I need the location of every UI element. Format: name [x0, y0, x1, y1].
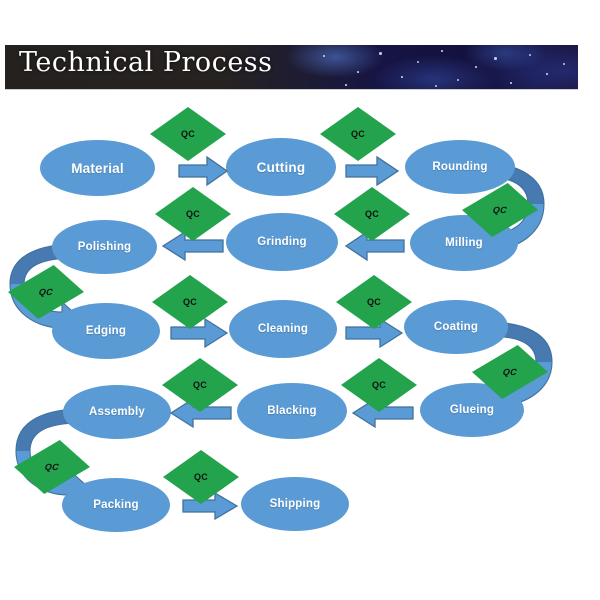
node-label: Edging: [86, 325, 126, 337]
qc-diamond-grinding-polishing[interactable]: QC: [155, 187, 231, 241]
node-label: Blacking: [267, 405, 317, 417]
qc-diamond-edging-cleaning[interactable]: QC: [152, 275, 228, 329]
node-label: Shipping: [270, 498, 321, 510]
qc-label: QC: [6, 440, 97, 494]
node-assembly[interactable]: Assembly: [63, 385, 171, 439]
qc-diamond-coating-glueing[interactable]: QC: [472, 345, 548, 399]
qc-label: QC: [0, 265, 91, 319]
node-blacking[interactable]: Blacking: [237, 383, 347, 439]
node-label: Rounding: [432, 161, 487, 173]
node-label: Polishing: [78, 241, 132, 253]
node-label: Cleaning: [258, 323, 308, 335]
node-label: Packing: [93, 499, 139, 511]
qc-diamond-cleaning-coating[interactable]: QC: [336, 275, 412, 329]
qc-label: QC: [155, 187, 231, 241]
qc-label: QC: [152, 275, 228, 329]
qc-label: QC: [162, 358, 238, 412]
page-title: Technical Process: [19, 47, 273, 78]
qc-diamond-packing-shipping[interactable]: QC: [163, 450, 239, 504]
node-label: Milling: [445, 237, 483, 249]
node-label: Cutting: [257, 160, 306, 175]
qc-label: QC: [464, 345, 555, 399]
qc-diamond-glueing-blacking[interactable]: QC: [341, 358, 417, 412]
qc-label: QC: [454, 183, 545, 237]
qc-label: QC: [163, 450, 239, 504]
node-grinding[interactable]: Grinding: [226, 213, 338, 271]
node-label: Material: [71, 161, 124, 176]
qc-diamond-polishing-edging[interactable]: QC: [8, 265, 84, 319]
qc-label: QC: [320, 107, 396, 161]
title-banner: Technical Process: [5, 45, 578, 90]
node-label: Grinding: [257, 236, 307, 248]
qc-diamond-rounding-milling[interactable]: QC: [462, 183, 538, 237]
node-label: Assembly: [89, 406, 145, 418]
qc-label: QC: [334, 187, 410, 241]
qc-diamond-blacking-assembly[interactable]: QC: [162, 358, 238, 412]
node-label: Coating: [434, 321, 478, 333]
diagram-canvas: Technical Process Material QC Cutting QC…: [0, 0, 600, 600]
node-material[interactable]: Material: [40, 140, 155, 196]
qc-label: QC: [341, 358, 417, 412]
node-label: Glueing: [450, 404, 494, 416]
node-cleaning[interactable]: Cleaning: [229, 300, 337, 358]
qc-label: QC: [150, 107, 226, 161]
qc-label: QC: [336, 275, 412, 329]
qc-diamond-material-cutting[interactable]: QC: [150, 107, 226, 161]
node-shipping[interactable]: Shipping: [241, 477, 349, 531]
qc-diamond-milling-grinding[interactable]: QC: [334, 187, 410, 241]
qc-diamond-assembly-packing[interactable]: QC: [14, 440, 90, 494]
qc-diamond-cutting-rounding[interactable]: QC: [320, 107, 396, 161]
